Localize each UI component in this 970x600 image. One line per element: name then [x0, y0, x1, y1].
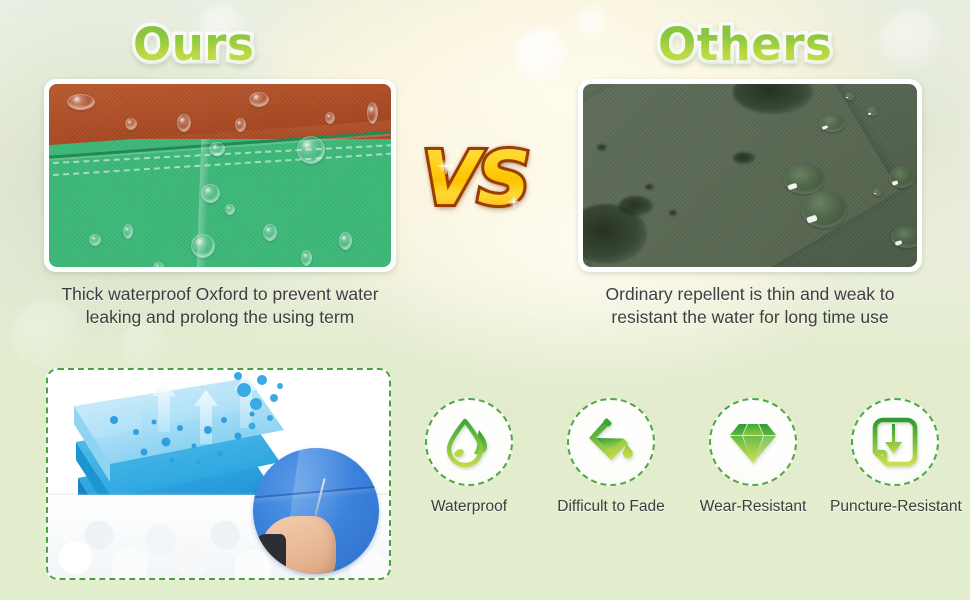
feature-icon-circle: [425, 398, 513, 486]
feature-difficult-to-fade[interactable]: Difficult to Fade: [546, 398, 676, 516]
water-droplet: [89, 234, 101, 246]
feature-label: Waterproof: [404, 498, 534, 516]
soaked-patch: [733, 152, 755, 164]
water-drop-icon: [443, 416, 495, 468]
ours-photo-card: [44, 79, 396, 272]
bokeh-circle: [576, 6, 610, 40]
feature-label: Wear-Resistant: [688, 498, 818, 516]
water-droplet: [339, 232, 352, 250]
sleeve-cuff: [253, 534, 286, 572]
bokeh-circle: [880, 10, 942, 72]
water-droplet: [125, 118, 137, 130]
feature-waterproof[interactable]: Waterproof: [404, 398, 534, 516]
flattened-droplet: [891, 226, 917, 248]
water-droplet: [153, 262, 164, 267]
others-title-fill: Others: [658, 18, 832, 71]
soaked-patch: [669, 210, 677, 216]
versus-badge: VS: [422, 142, 529, 216]
feature-label: Difficult to Fade: [546, 498, 676, 516]
flattened-droplet: [867, 106, 879, 116]
water-droplet: [191, 234, 215, 258]
feature-icon-circle: [709, 398, 797, 486]
paint-bucket-icon: [585, 416, 637, 468]
feature-wear-resistant[interactable]: Wear-Resistant: [688, 398, 818, 516]
feature-label: Puncture-Resistant: [830, 498, 960, 516]
others-caption: Ordinary repellent is thin and weak to r…: [572, 283, 928, 330]
product-comparison-infographic: Ours Ours Others Others: [0, 0, 970, 600]
feature-puncture-resistant[interactable]: Puncture-Resistant: [830, 398, 960, 516]
water-droplet: [209, 142, 225, 156]
flattened-droplet: [845, 92, 855, 100]
flattened-droplet: [873, 188, 882, 196]
feature-icon-circle: [567, 398, 655, 486]
needle-test-inset: [253, 448, 379, 574]
water-droplet: [263, 224, 277, 241]
flattened-droplet: [801, 190, 847, 228]
feature-list: Waterproof: [404, 398, 960, 548]
ours-caption: Thick waterproof Oxford to prevent water…: [40, 283, 400, 330]
feature-icon-circle: [851, 398, 939, 486]
soaked-patch: [619, 196, 653, 216]
water-droplet: [177, 114, 191, 132]
diamond-icon: [726, 416, 780, 468]
document-arrow-icon: [869, 416, 921, 468]
water-droplet: [123, 224, 133, 239]
ours-title-fill: Ours: [133, 18, 254, 71]
others-fabric-photo: [583, 84, 917, 267]
water-droplet: [67, 94, 95, 110]
water-droplet: [235, 118, 246, 132]
flattened-droplet: [889, 166, 915, 188]
water-droplet: [325, 112, 335, 124]
others-photo-card: [578, 79, 922, 272]
water-droplet: [297, 136, 325, 164]
bokeh-circle: [515, 28, 571, 84]
water-droplet: [301, 250, 312, 266]
water-droplet: [249, 92, 269, 107]
waterproof-membrane-panel: [46, 368, 391, 580]
water-droplet: [225, 204, 235, 215]
soaked-patch: [597, 144, 607, 151]
ours-fabric-photo: [49, 84, 391, 267]
soaked-patch: [645, 184, 654, 190]
water-droplet: [367, 102, 378, 124]
flattened-droplet: [819, 114, 845, 132]
water-droplet: [201, 184, 220, 203]
